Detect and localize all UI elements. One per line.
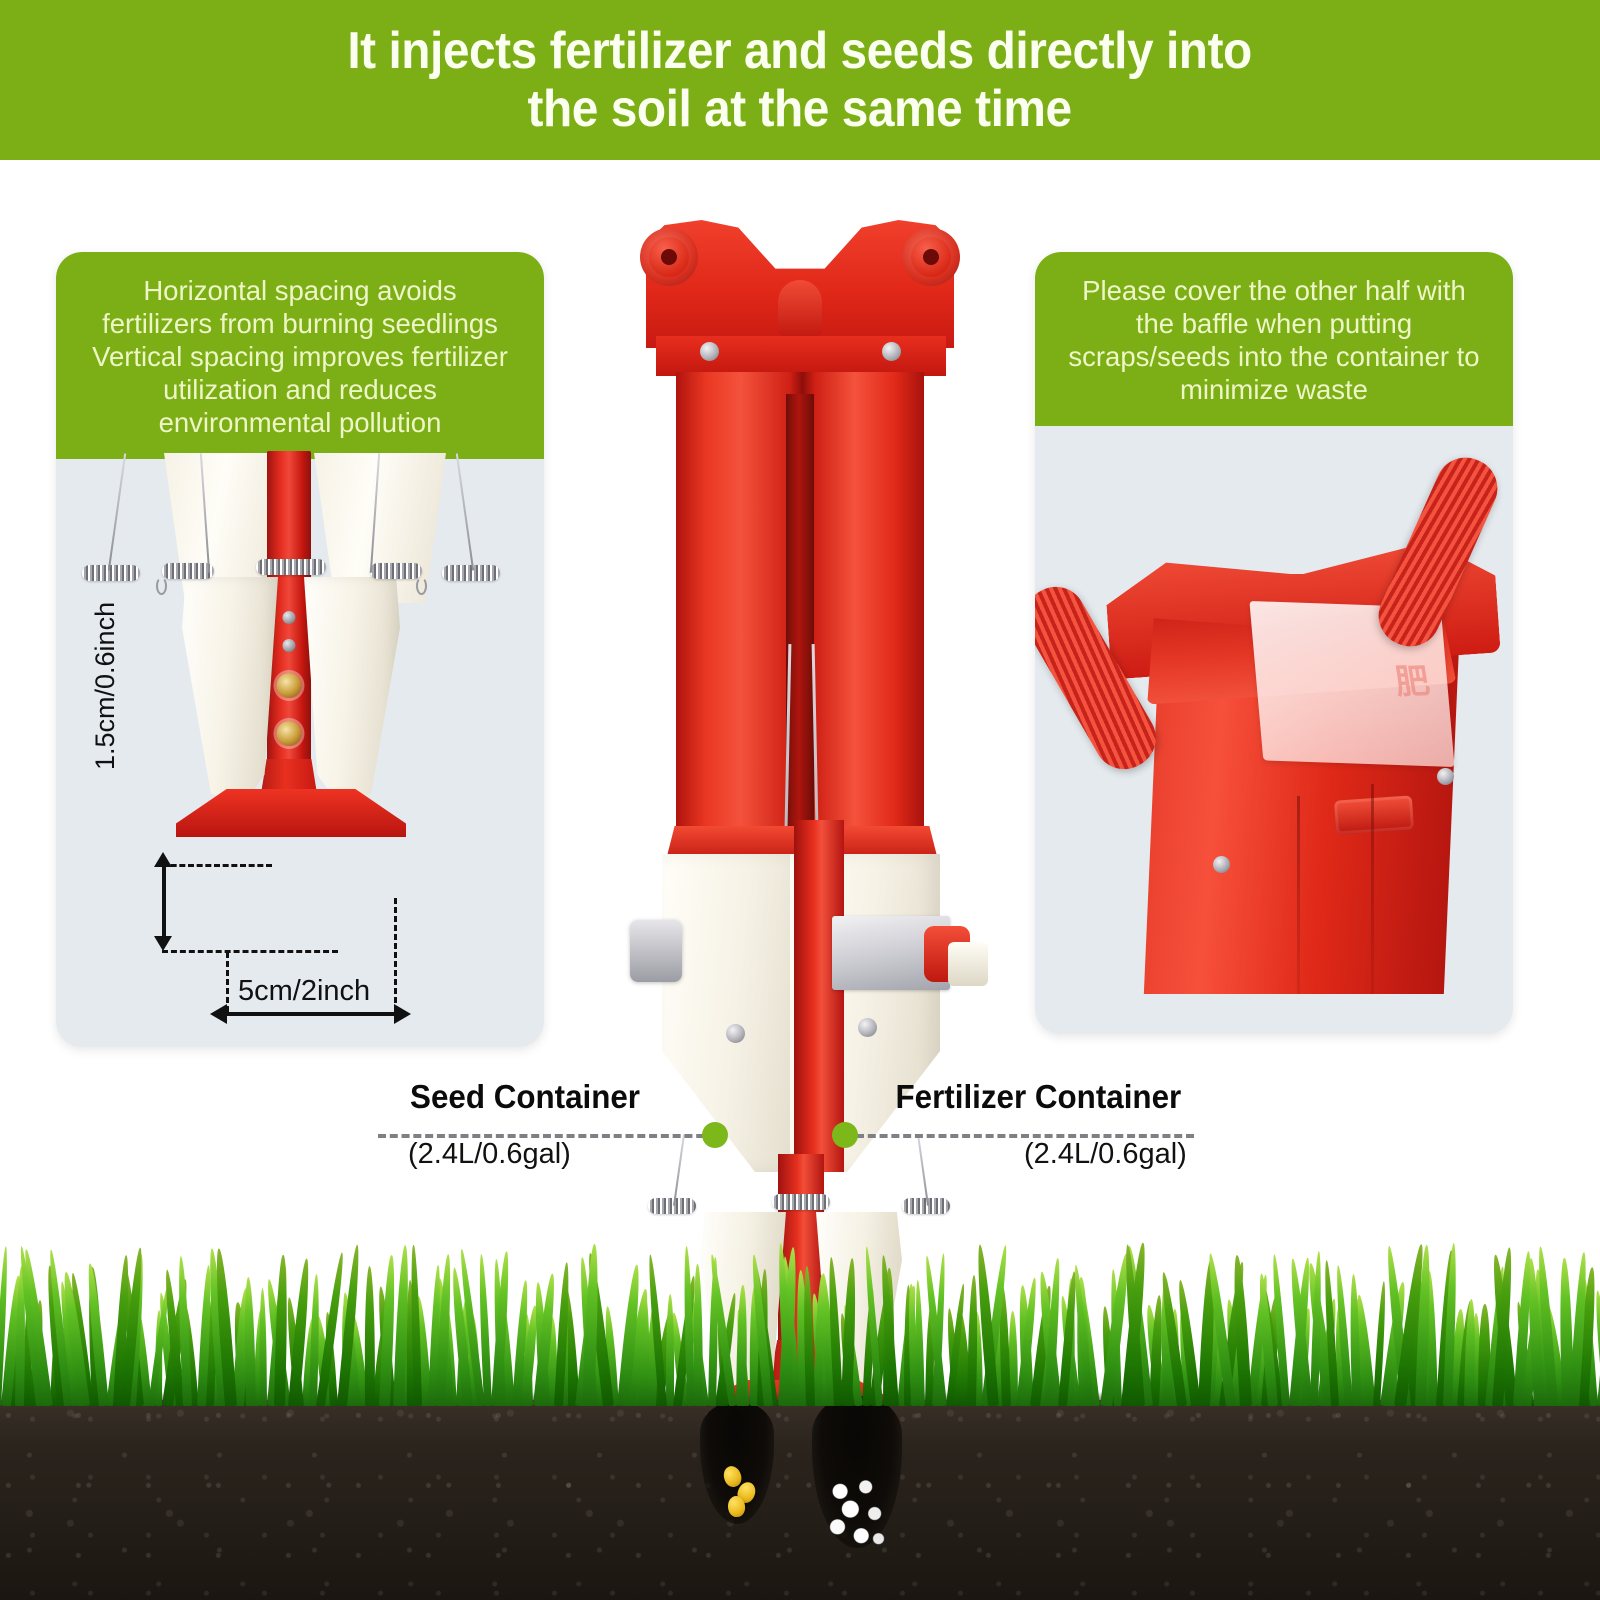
seed-container-label: Seed Container	[410, 1078, 640, 1116]
container-latch	[1334, 795, 1414, 834]
spring-hook-right	[416, 577, 427, 595]
wire-right-outer	[456, 453, 474, 570]
left-callout-line4: utilization and reduces	[74, 373, 526, 406]
yoke-screw-left	[700, 342, 719, 361]
seed-label-connector	[378, 1134, 716, 1138]
seed-container-capacity: (2.4L/0.6gal)	[408, 1138, 571, 1171]
brass-bushing-upper	[277, 673, 302, 698]
grass-blade	[243, 1277, 256, 1406]
horizontal-extension-right	[394, 898, 397, 1012]
lower-spring-left	[648, 1198, 696, 1214]
grass-blade	[693, 1264, 703, 1406]
spring-inner-right	[370, 563, 422, 579]
horizontal-extension-left	[226, 952, 229, 1012]
vertical-arrow-down	[154, 936, 172, 951]
left-callout-line5: environmental pollution	[74, 406, 526, 439]
vertical-extension-bottom	[162, 950, 338, 953]
container-screw-right	[1437, 768, 1454, 785]
seed-connector-dot	[702, 1122, 728, 1148]
right-callout-line4: minimize waste	[1053, 373, 1495, 406]
baffle-embossed-glyph: 肥	[1391, 654, 1433, 704]
right-product-photo: 肥	[1035, 426, 1513, 991]
seed-container-body	[662, 854, 812, 1172]
brass-bushing-lower	[277, 721, 302, 746]
red-foot-plate	[176, 789, 406, 837]
jaw-right	[304, 577, 400, 807]
wire-left-outer	[108, 453, 126, 570]
header-title-line1: It injects fertilizer and seeds directly…	[348, 22, 1252, 80]
rivet-upper	[283, 611, 296, 624]
left-callout-line1: Horizontal spacing avoids	[74, 274, 526, 307]
container-baffle-illustration: 肥	[1035, 426, 1513, 991]
left-callout-line3: Vertical spacing improves fertilizer	[74, 340, 526, 373]
header-title: It injects fertilizer and seeds directly…	[348, 22, 1252, 138]
container-seam-right	[1371, 784, 1374, 994]
left-callout-line2: fertilizers from burning seedlings	[74, 307, 526, 340]
grass-band	[0, 1238, 1600, 1406]
horizontal-arrow-left	[210, 1004, 227, 1024]
fertilizer-container-label: Fertilizer Container	[896, 1078, 1182, 1116]
yoke-screw-right	[882, 342, 901, 361]
adjustment-knob-cream	[948, 942, 988, 986]
right-callout-line1: Please cover the other half with	[1053, 274, 1495, 307]
right-callout-text: Please cover the other half with the baf…	[1035, 252, 1513, 426]
header-title-line2: the soil at the same time	[348, 80, 1252, 138]
vertical-dimension-line	[162, 864, 166, 938]
grass-blade	[365, 1266, 376, 1406]
right-callout-line3: scraps/seeds into the container to	[1053, 340, 1495, 373]
header-banner: It injects fertilizer and seeds directly…	[0, 0, 1600, 160]
soil-cross-section	[0, 1400, 1600, 1600]
hopper-center-post	[794, 820, 844, 1172]
horizontal-dimension-line	[226, 1012, 396, 1016]
vertical-dimension-label: 1.5cm/0.6inch	[90, 602, 121, 770]
spring-outer-left	[82, 565, 140, 581]
spring-hook-left	[156, 577, 167, 595]
container-seam-left	[1297, 796, 1300, 994]
jaw-left	[182, 577, 278, 807]
fertilizer-granule-deposit	[826, 1478, 890, 1552]
vertical-extension-top	[162, 864, 272, 867]
fertilizer-container-capacity: (2.4L/0.6gal)	[1024, 1138, 1187, 1171]
right-callout-line2: the baffle when putting	[1053, 307, 1495, 340]
handle-boss-right	[902, 228, 960, 286]
handle-boss-left	[640, 228, 698, 286]
horizontal-arrow-right	[394, 1004, 411, 1024]
grass-blade	[736, 1285, 747, 1406]
spring-center	[256, 559, 326, 575]
spring-inner-left	[162, 563, 214, 579]
hopper-screw-right	[858, 1018, 877, 1037]
right-feature-card: Please cover the other half with the baf…	[1035, 252, 1513, 1034]
seed-metering-roller	[630, 920, 682, 982]
rivet-lower	[283, 639, 296, 652]
jaw-mechanism-illustration	[56, 459, 544, 1014]
fertilizer-connector-dot	[832, 1122, 858, 1148]
left-callout-text: Horizontal spacing avoids fertilizers fr…	[56, 252, 544, 459]
yoke-center-tab	[778, 280, 822, 336]
lower-spring-center	[772, 1194, 830, 1210]
yoke-neck	[656, 336, 946, 376]
fertilizer-label-connector	[856, 1134, 1194, 1138]
container-screw-left	[1213, 856, 1230, 873]
left-feature-card: Horizontal spacing avoids fertilizers fr…	[56, 252, 544, 1047]
left-product-photo	[56, 459, 544, 1014]
grass-blade	[666, 1294, 674, 1406]
grass-blade	[259, 1288, 267, 1406]
horizontal-dimension-label: 5cm/2inch	[238, 975, 370, 1008]
hopper-screw-left	[726, 1024, 745, 1043]
